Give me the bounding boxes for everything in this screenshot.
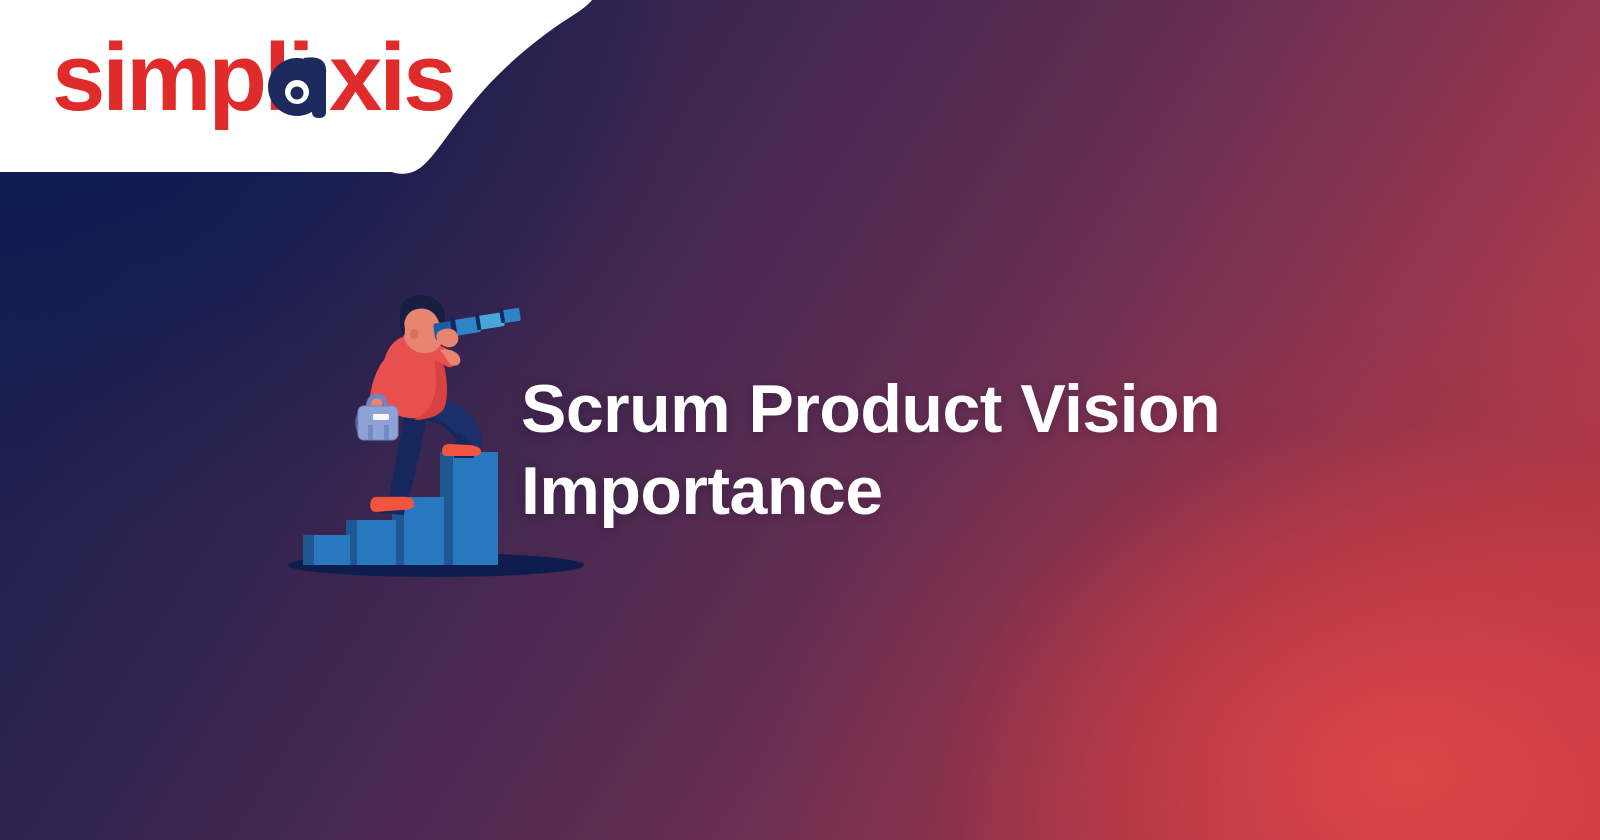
bar-1 — [303, 535, 350, 565]
bar-4 — [440, 452, 498, 565]
logo-text-part2: xis — [329, 32, 453, 131]
banner-root: simpli xis — [0, 0, 1600, 840]
page-title-line-2: Importance — [521, 450, 1341, 532]
page-title-line-1: Scrum Product Vision — [521, 368, 1341, 450]
brand-logo[interactable]: simpli xis — [52, 32, 482, 142]
bar-2 — [346, 520, 396, 565]
page-title: Scrum Product Vision Importance — [521, 368, 1341, 532]
